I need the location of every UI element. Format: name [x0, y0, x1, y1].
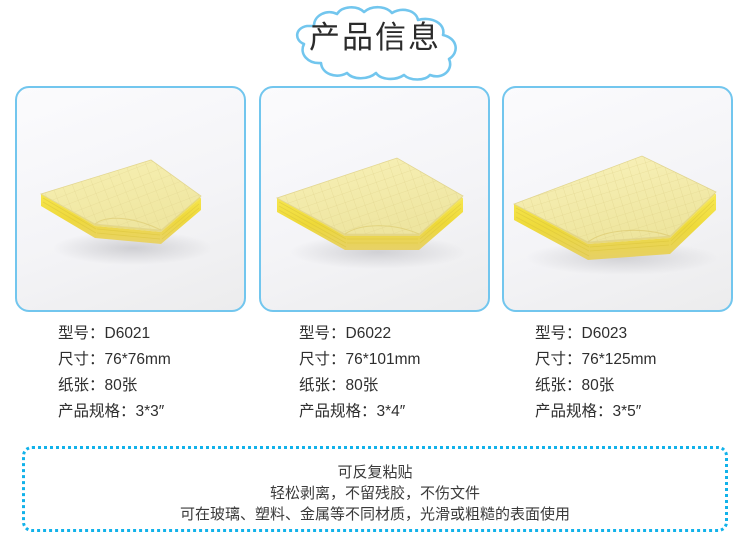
- product-photo-frame: [259, 86, 490, 312]
- feature-line-3: 可在玻璃、塑料、金属等不同材质，光滑或粗糙的表面使用: [25, 504, 725, 525]
- product-specs: 型号：D6023 尺寸：76*125mm 纸张：80张 产品规格：3*5″: [502, 321, 735, 425]
- spec-size: 尺寸：76*125mm: [535, 347, 735, 373]
- product-card[interactable]: 型号：D6023 尺寸：76*125mm 纸张：80张 产品规格：3*5″: [502, 86, 735, 425]
- spec-model: 型号：D6022: [299, 321, 492, 347]
- product-card[interactable]: 型号：D6022 尺寸：76*101mm 纸张：80张 产品规格：3*4″: [259, 86, 492, 425]
- spec-specification: 产品规格：3*3″: [58, 399, 248, 425]
- spec-sheets: 纸张：80张: [58, 373, 248, 399]
- spec-size: 尺寸：76*76mm: [58, 347, 248, 373]
- product-photo-frame: [502, 86, 733, 312]
- product-specs: 型号：D6022 尺寸：76*101mm 纸张：80张 产品规格：3*4″: [259, 321, 492, 425]
- spec-specification: 产品规格：3*4″: [299, 399, 492, 425]
- sticky-note-pad-icon: [273, 132, 483, 277]
- spec-specification: 产品规格：3*5″: [535, 399, 735, 425]
- product-list: 型号：D6021 尺寸：76*76mm 纸张：80张 产品规格：3*3″: [0, 86, 750, 426]
- sticky-note-pad-icon: [33, 136, 233, 271]
- spec-model: 型号：D6021: [58, 321, 248, 347]
- page-title: 产品信息: [0, 18, 750, 58]
- product-photo: [261, 88, 488, 310]
- spec-size: 尺寸：76*101mm: [299, 347, 492, 373]
- product-photo: [17, 88, 244, 310]
- spec-model: 型号：D6023: [535, 321, 735, 347]
- spec-sheets: 纸张：80张: [535, 373, 735, 399]
- features-box: 可反复粘贴 轻松剥离，不留残胶，不伤文件 可在玻璃、塑料、金属等不同材质，光滑或…: [22, 446, 728, 532]
- sticky-note-pad-icon: [510, 132, 731, 282]
- feature-line-2: 轻松剥离，不留残胶，不伤文件: [25, 483, 725, 504]
- features-text-group: 可反复粘贴 轻松剥离，不留残胶，不伤文件 可在玻璃、塑料、金属等不同材质，光滑或…: [25, 462, 725, 525]
- page-header: 产品信息: [0, 0, 750, 86]
- product-card[interactable]: 型号：D6021 尺寸：76*76mm 纸张：80张 产品规格：3*3″: [15, 86, 248, 425]
- feature-line-1: 可反复粘贴: [25, 462, 725, 483]
- product-specs: 型号：D6021 尺寸：76*76mm 纸张：80张 产品规格：3*3″: [15, 321, 248, 425]
- product-photo-frame: [15, 86, 246, 312]
- spec-sheets: 纸张：80张: [299, 373, 492, 399]
- product-photo: [504, 88, 731, 310]
